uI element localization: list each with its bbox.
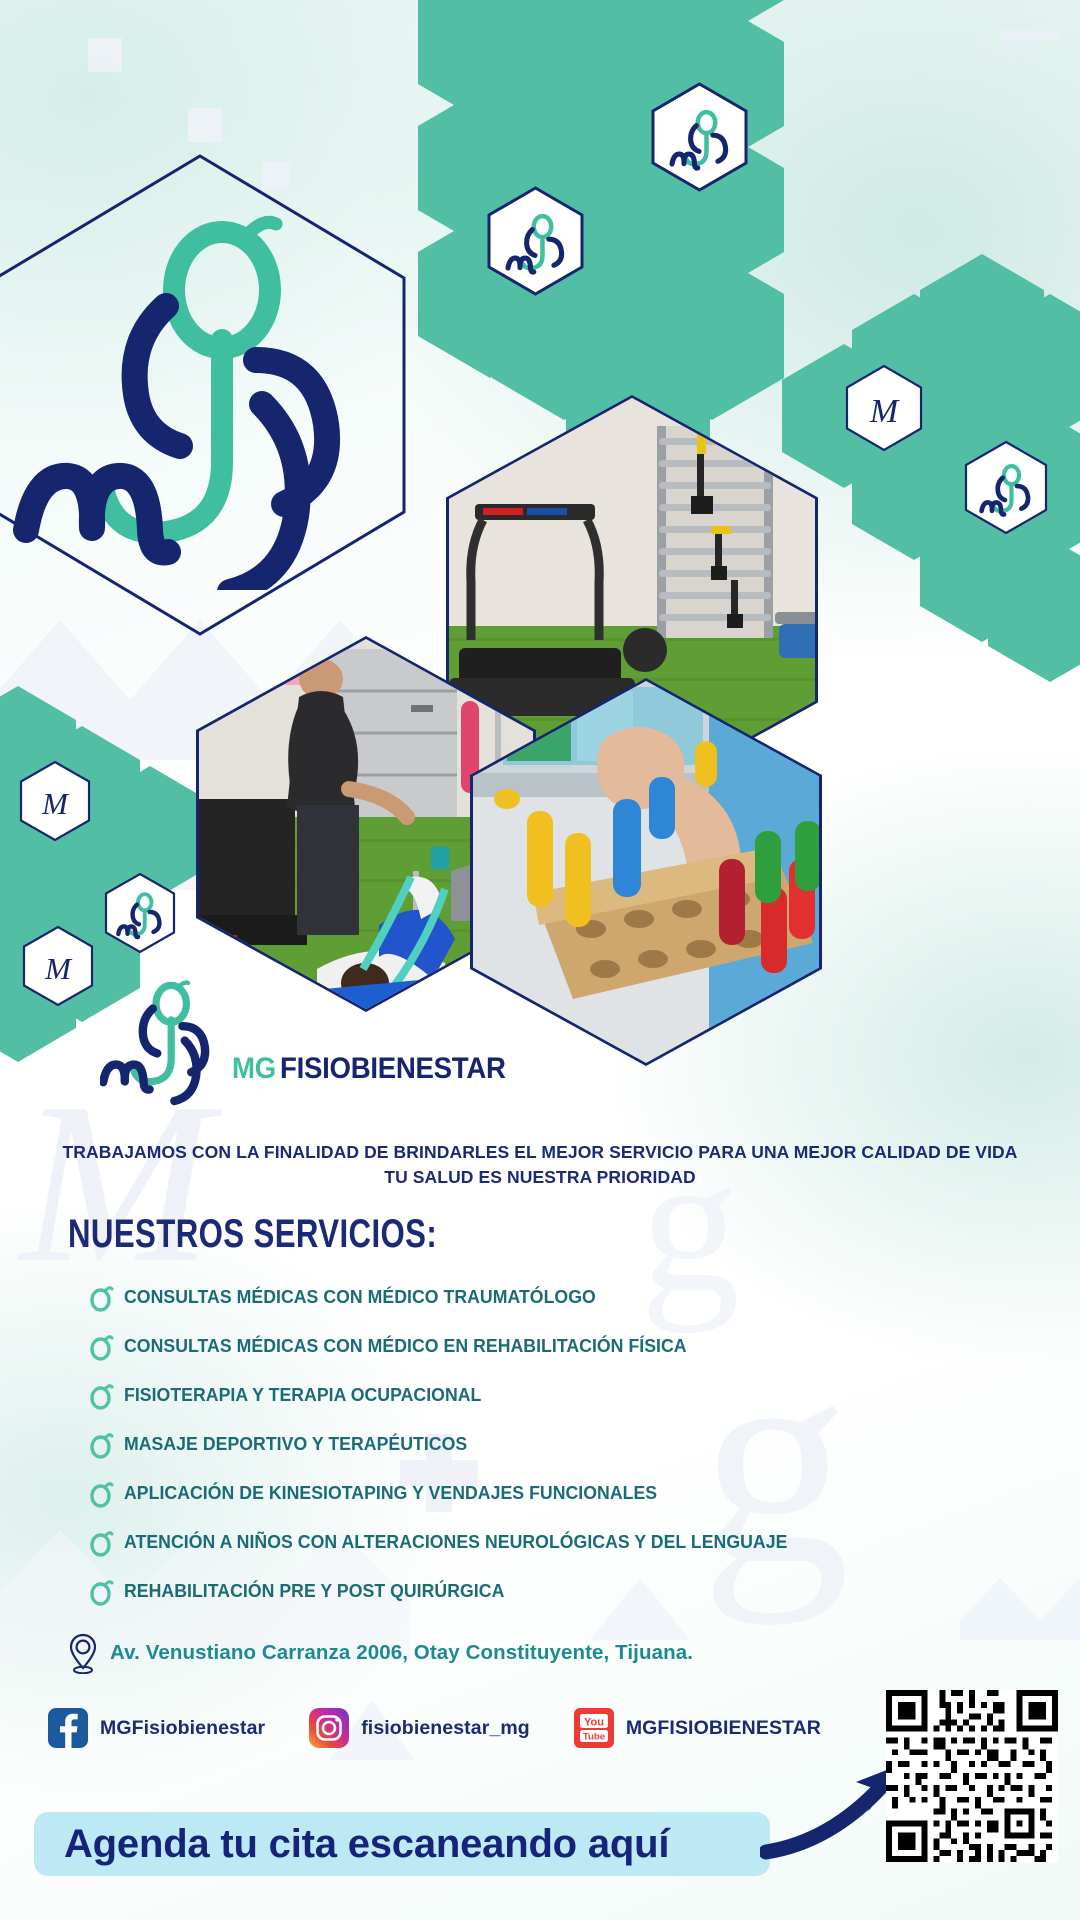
social-link-instagram[interactable]: fisiobienestar_mg [309, 1708, 530, 1748]
cta-banner[interactable]: Agenda tu cita escaneando aquí [34, 1812, 770, 1876]
service-bullet-icon [88, 1478, 114, 1508]
address-text: Av. Venustiano Carranza 2006, Otay Const… [110, 1641, 693, 1665]
logo-badge-hex-m-left-bottom: M [22, 925, 94, 1007]
tagline-line-1: TRABAJAMOS CON LA FINALIDAD DE BRINDARLE… [0, 1140, 1080, 1165]
services-list: CONSULTAS MÉDICAS CON MÉDICO TRAUMATÓLOG… [88, 1272, 948, 1615]
social-handle-youtube: MGFISIOBIENESTAR [626, 1717, 821, 1740]
service-label: REHABILITACIÓN PRE Y POST QUIRÚRGICA [124, 1580, 504, 1602]
service-label: FISIOTERAPIA Y TERAPIA OCUPACIONAL [124, 1384, 481, 1406]
logo-badge-hex-4 [964, 440, 1048, 535]
social-link-youtube[interactable]: You Tube MGFISIOBIENESTAR [574, 1708, 821, 1748]
service-label: MASAJE DEPORTIVO Y TERAPÉUTICOS [124, 1433, 467, 1455]
youtube-icon[interactable]: You Tube [574, 1708, 614, 1748]
cta-text: Agenda tu cita escaneando aquí [64, 1822, 669, 1867]
service-bullet-icon [88, 1576, 114, 1606]
poster-root: M g g ww [0, 0, 1080, 1920]
social-row: MGFisiobienestar [48, 1708, 821, 1748]
qr-code-icon[interactable] [886, 1690, 1058, 1862]
service-bullet-icon [88, 1527, 114, 1557]
badge-letter-m: M [869, 393, 900, 430]
service-item: ATENCIÓN A NIÑOS CON ALTERACIONES NEUROL… [88, 1517, 948, 1566]
social-handle-facebook: MGFisiobienestar [100, 1717, 265, 1740]
facebook-icon[interactable] [48, 1708, 88, 1748]
svg-text:ww: ww [974, 24, 1036, 71]
service-item: APLICACIÓN DE KINESIOTAPING Y VENDAJES F… [88, 1468, 948, 1517]
brand-wordmark-fisiobienestar: FISIOBIENESTAR [280, 1052, 506, 1086]
logo-badge-hex-m-right: M [845, 364, 923, 452]
service-bullet-icon [88, 1282, 114, 1312]
service-label: APLICACIÓN DE KINESIOTAPING Y VENDAJES F… [124, 1482, 657, 1504]
logo-badge-hex-2 [487, 186, 584, 296]
logo-badge-hex-6 [104, 872, 176, 954]
main-logo-mark [10, 190, 400, 590]
service-label: CONSULTAS MÉDICAS CON MÉDICO EN REHABILI… [124, 1335, 687, 1357]
services-heading: NUESTROS SERVICIOS: [68, 1212, 437, 1257]
svg-text:Tube: Tube [583, 1732, 605, 1743]
social-handle-instagram: fisiobienestar_mg [361, 1717, 530, 1740]
service-bullet-icon [88, 1429, 114, 1459]
logo-badge-hex-1 [651, 82, 748, 192]
instagram-icon[interactable] [309, 1708, 349, 1748]
tagline-line-2: TU SALUD ES NUESTRA PRIORIDAD [0, 1165, 1080, 1190]
service-item: MASAJE DEPORTIVO Y TERAPÉUTICOS [88, 1419, 948, 1468]
social-link-facebook[interactable]: MGFisiobienestar [48, 1708, 265, 1748]
service-item: REHABILITACIÓN PRE Y POST QUIRÚRGICA [88, 1566, 948, 1615]
service-item: FISIOTERAPIA Y TERAPIA OCUPACIONAL [88, 1370, 948, 1419]
service-label: CONSULTAS MÉDICAS CON MÉDICO TRAUMATÓLOG… [124, 1286, 596, 1308]
logo-badge-hex-m-left-top: M [19, 760, 91, 842]
brand-wordmark: MG FISIOBIENESTAR [232, 1052, 525, 1086]
service-bullet-icon [88, 1331, 114, 1361]
svg-text:You: You [584, 1716, 604, 1728]
address-row: Av. Venustiano Carranza 2006, Otay Const… [68, 1632, 693, 1674]
location-pin-icon [68, 1632, 98, 1674]
service-item: CONSULTAS MÉDICAS CON MÉDICO TRAUMATÓLOG… [88, 1272, 948, 1321]
brand-wordmark-mg: MG [232, 1052, 276, 1086]
service-item: CONSULTAS MÉDICAS CON MÉDICO EN REHABILI… [88, 1321, 948, 1370]
service-label: ATENCIÓN A NIÑOS CON ALTERACIONES NEUROL… [124, 1531, 787, 1553]
service-bullet-icon [88, 1380, 114, 1410]
tagline: TRABAJAMOS CON LA FINALIDAD DE BRINDARLE… [0, 1140, 1080, 1191]
badge-letter-m: M [44, 951, 73, 986]
badge-letter-m: M [41, 786, 70, 821]
brand-lockup [100, 975, 460, 1110]
